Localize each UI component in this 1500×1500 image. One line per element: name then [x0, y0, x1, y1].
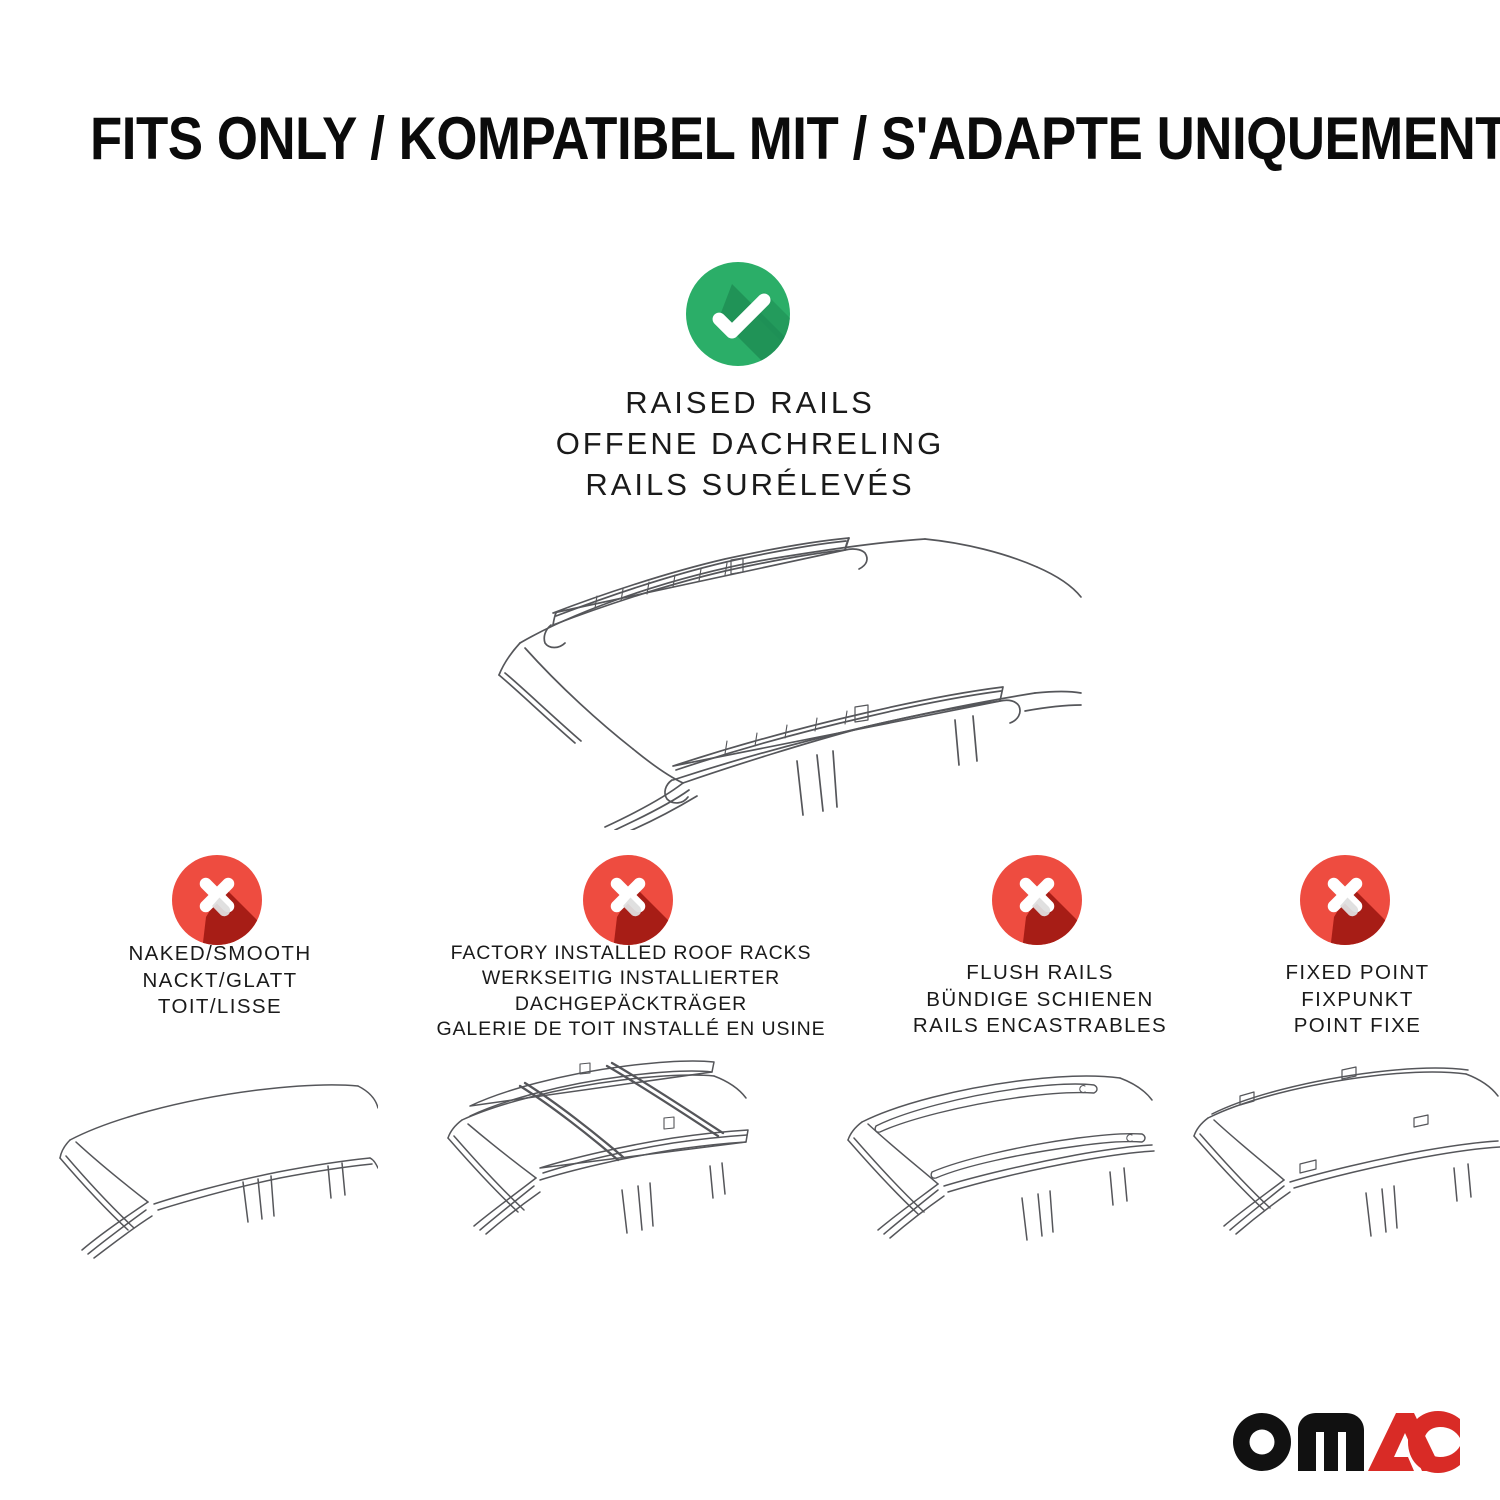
page-title: FITS ONLY / KOMPATIBEL MIT / S'ADAPTE UN… — [90, 104, 1410, 173]
car-roof-flush-rails-drawing — [832, 1060, 1162, 1290]
check-circle-icon — [686, 262, 798, 374]
compatibility-infographic: FITS ONLY / KOMPATIBEL MIT / S'ADAPTE UN… — [0, 0, 1500, 1500]
car-roof-factory-rack-drawing — [422, 1058, 752, 1290]
caption-line: FLUSH RAILS — [860, 960, 1220, 987]
caption-line: FIXED POINT — [1215, 960, 1500, 987]
caption-line: DACHGEPÄCKTRÄGER — [401, 992, 861, 1017]
car-roof-raised-rails-drawing — [425, 515, 1085, 830]
car-roof-fixed-point-drawing — [1182, 1060, 1500, 1290]
caption-line: NACKT/GLATT — [30, 968, 410, 995]
incompatible-caption-fixed-point: FIXED POINT FIXPUNKT POINT FIXE — [1215, 960, 1500, 1040]
car-roof-naked-drawing — [58, 1062, 378, 1292]
compatible-line-2: OFFENE DACHRELING — [0, 424, 1500, 465]
caption-line: FACTORY INSTALLED ROOF RACKS — [401, 941, 861, 966]
caption-line: FIXPUNKT — [1215, 987, 1500, 1014]
x-circle-icon — [992, 855, 1088, 951]
caption-line: GALERIE DE TOIT INSTALLÉ EN USINE — [401, 1017, 861, 1042]
incompatible-caption-naked-smooth: NAKED/SMOOTH NACKT/GLATT TOIT/LISSE — [30, 941, 410, 1021]
caption-line: WERKSEITIG INSTALLIERTER — [401, 966, 861, 991]
compatible-line-1: RAISED RAILS — [0, 383, 1500, 424]
caption-line: RAILS ENCASTRABLES — [860, 1013, 1220, 1040]
incompatible-caption-factory-roof-racks: FACTORY INSTALLED ROOF RACKS WERKSEITIG … — [401, 941, 861, 1042]
compatible-caption: RAISED RAILS OFFENE DACHRELING RAILS SUR… — [0, 383, 1500, 506]
incompatible-caption-flush-rails: FLUSH RAILS BÜNDIGE SCHIENEN RAILS ENCAS… — [860, 960, 1220, 1040]
caption-line: BÜNDIGE SCHIENEN — [860, 987, 1220, 1014]
caption-line: TOIT/LISSE — [30, 994, 410, 1021]
x-circle-icon — [583, 855, 679, 951]
x-circle-icon — [172, 855, 268, 951]
caption-line: NAKED/SMOOTH — [30, 941, 410, 968]
caption-line: POINT FIXE — [1215, 1013, 1500, 1040]
compatible-line-3: RAILS SURÉLEVÉS — [0, 465, 1500, 506]
x-circle-icon — [1300, 855, 1396, 951]
omac-logo — [1228, 1402, 1460, 1474]
